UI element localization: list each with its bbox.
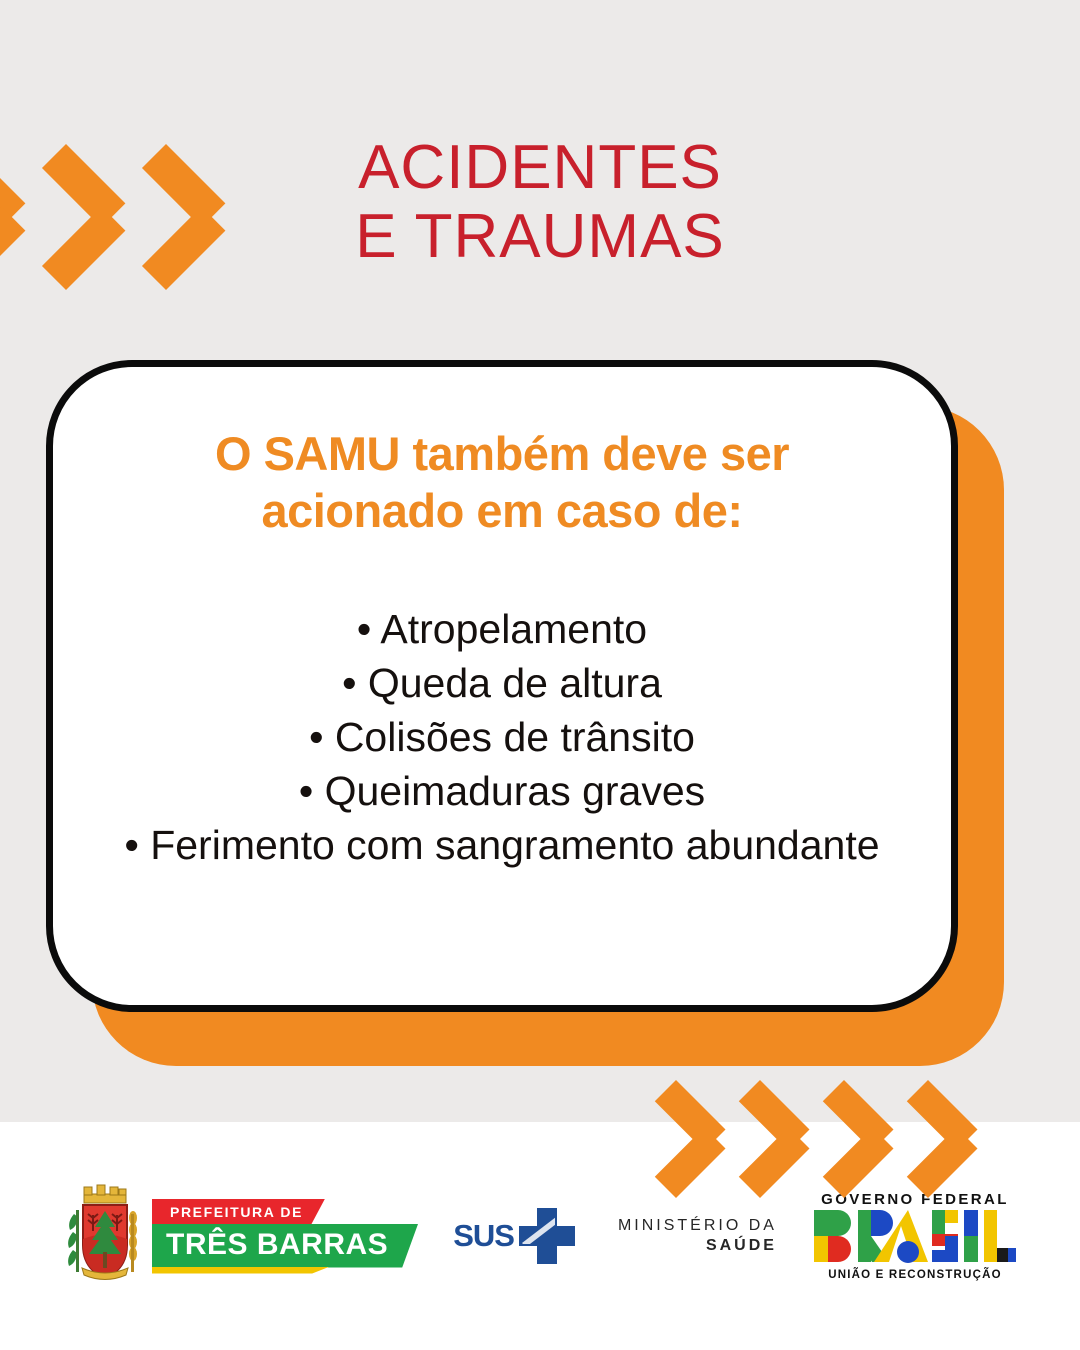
- ministerio-saude-logo: SUS MINISTÉRIO DA SAÚDE: [453, 1205, 777, 1267]
- chevron-right-icon: [760, 1060, 832, 1188]
- sus-wordmark: SUS: [453, 1218, 514, 1254]
- title-line-1: ACIDENTES: [358, 133, 722, 202]
- chevron-right-icon: [844, 1060, 916, 1188]
- ministerio-text: MINISTÉRIO DA SAÚDE: [618, 1216, 777, 1256]
- chevron-right-icon: [928, 1060, 1000, 1188]
- prefeitura-line-2: TRÊS BARRAS: [152, 1224, 418, 1268]
- emergency-list: • Atropelamento • Queda de altura • Coli…: [124, 602, 879, 873]
- sus-logo: SUS: [453, 1205, 578, 1267]
- medical-cross-icon: [516, 1205, 578, 1267]
- content-card: O SAMU também deve ser acionado em caso …: [46, 360, 958, 1012]
- bottom-chevron-group: [676, 1060, 1000, 1188]
- page-title: ACIDENTES E TRAUMAS: [0, 133, 1080, 272]
- coat-of-arms-icon: [62, 1184, 148, 1288]
- prefeitura-tres-barras-logo: PREFEITURA DE TRÊS BARRAS: [62, 1184, 418, 1288]
- prefeitura-yellow-strip: [152, 1267, 330, 1274]
- prefeitura-line-1: PREFEITURA DE: [152, 1199, 325, 1225]
- list-item: • Colisões de trânsito: [124, 710, 879, 764]
- card-heading: O SAMU também deve ser acionado em caso …: [152, 425, 852, 540]
- governo-tagline: UNIÃO E RECONSTRUÇÃO: [828, 1269, 1002, 1281]
- governo-federal-logo: GOVERNO FEDERAL: [812, 1191, 1018, 1281]
- brasil-wordmark-icon: [812, 1208, 1018, 1266]
- content-card-wrapper: O SAMU também deve ser acionado em caso …: [46, 360, 1006, 1070]
- ministerio-line-1: MINISTÉRIO DA: [618, 1216, 777, 1236]
- governo-federal-label: GOVERNO FEDERAL: [821, 1191, 1009, 1208]
- list-item: • Queda de altura: [124, 656, 879, 710]
- list-item: • Queimaduras graves: [124, 764, 879, 818]
- poster-canvas: ACIDENTES E TRAUMAS O SAMU também deve s…: [0, 0, 1080, 1350]
- ministerio-line-2: SAÚDE: [618, 1236, 777, 1256]
- title-line-2: E TRAUMAS: [355, 202, 725, 271]
- list-item: • Ferimento com sangramento abundante: [124, 818, 879, 872]
- chevron-right-icon: [676, 1060, 748, 1188]
- list-item: • Atropelamento: [124, 602, 879, 656]
